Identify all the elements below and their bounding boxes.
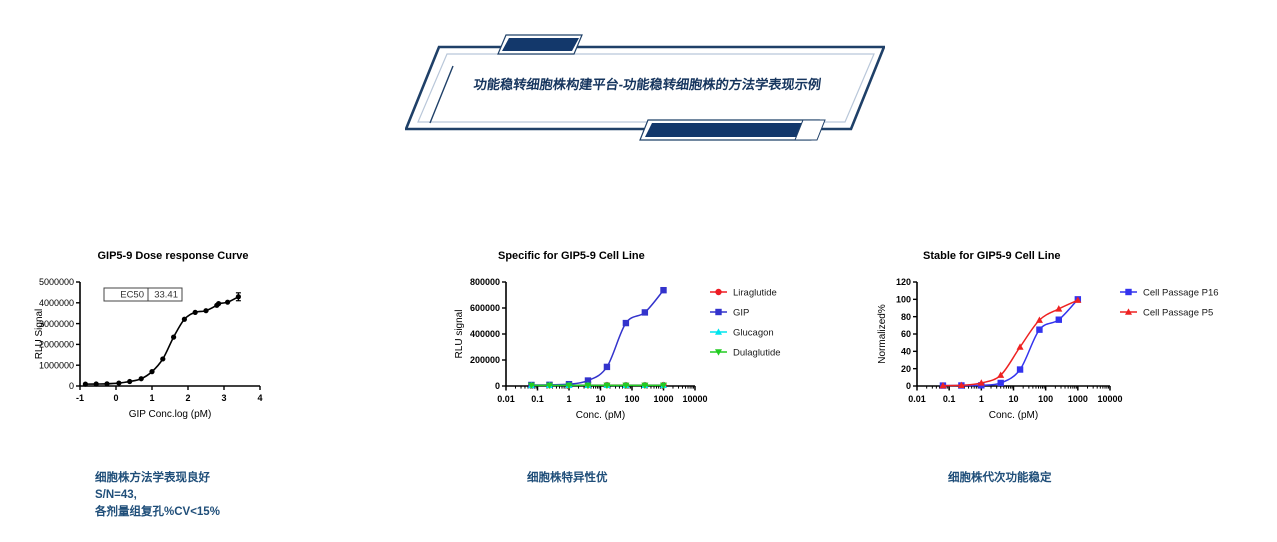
chart-2-data-point xyxy=(660,287,666,293)
chart-1-data-point xyxy=(116,380,121,385)
chart-1-y-tick-label: 1000000 xyxy=(39,360,74,370)
chart-1-x-tick-label: 0 xyxy=(113,393,118,403)
banner-title: 功能稳转细胞株构建平台-功能稳转细胞株的方法学表现示例 xyxy=(434,74,861,93)
chart-1-ec50-label: EC50 xyxy=(120,290,144,301)
chart-2-svg: 02000004000006000008000000.010.111010010… xyxy=(440,268,840,433)
chart-3-legend-marker xyxy=(1125,289,1131,295)
chart-1-data-point xyxy=(127,379,132,384)
chart-panel-2: Specific for GIP5-9 Cell Line 0200000400… xyxy=(440,250,840,433)
caption-3: 细胞株代次功能稳定 xyxy=(948,470,1052,487)
chart-3-data-point xyxy=(1056,317,1062,323)
chart-1-y-tick-label: 5000000 xyxy=(39,277,74,287)
chart-2-data-point xyxy=(642,309,648,315)
chart-2-legend-label: Liraglutide xyxy=(733,287,777,298)
chart-3-x-axis-label: Conc. (pM) xyxy=(989,410,1038,421)
chart-2-legend-marker xyxy=(715,309,721,315)
chart-2-y-tick-label: 0 xyxy=(495,381,500,391)
chart-2-y-axis-label: RLU signal xyxy=(454,310,465,359)
chart-1-data-point xyxy=(149,369,154,374)
chart-3-x-tick-label: 1 xyxy=(979,394,984,404)
chart-1-data-point xyxy=(104,381,109,386)
chart-1-data-point xyxy=(182,317,187,322)
chart-1-data-point xyxy=(216,301,221,306)
chart-3-series-line xyxy=(943,299,1078,385)
chart-panel-1: GIP5-9 Dose response Curve 0100000020000… xyxy=(18,250,328,428)
chart-1-x-tick-label: 1 xyxy=(149,393,154,403)
chart-3-y-axis-label: Normalized% xyxy=(877,304,888,364)
chart-1-data-point xyxy=(83,382,88,387)
chart-3-data-point xyxy=(1017,366,1023,372)
chart-1-x-tick-label: -1 xyxy=(76,393,84,403)
chart-1-data-point xyxy=(236,294,241,299)
chart-2-y-tick-label: 800000 xyxy=(470,277,500,287)
chart-3-x-tick-label: 10000 xyxy=(1097,394,1122,404)
chart-2-y-tick-label: 400000 xyxy=(470,329,500,339)
banner: 功能稳转细胞株构建平台-功能稳转细胞株的方法学表现示例 xyxy=(405,28,885,148)
chart-3-series-line xyxy=(943,300,1078,385)
chart-2-legend-label: GIP xyxy=(733,307,749,318)
chart-2-y-tick-label: 200000 xyxy=(470,355,500,365)
chart-2-plot: 02000004000006000008000000.010.111010010… xyxy=(440,268,840,433)
chart-1-data-point xyxy=(171,335,176,340)
chart-3-x-tick-label: 0.1 xyxy=(943,394,956,404)
chart-panel-3: Stable for GIP5-9 Cell Line 020406080100… xyxy=(865,250,1265,433)
chart-1-data-point xyxy=(160,356,165,361)
chart-3-legend-label: Cell Passage P16 xyxy=(1143,287,1219,298)
chart-1-plot: 010000002000000300000040000005000000-101… xyxy=(18,268,328,428)
chart-2-x-tick-label: 0.01 xyxy=(497,394,515,404)
chart-1-y-tick-label: 4000000 xyxy=(39,298,74,308)
chart-2-x-tick-label: 100 xyxy=(624,394,639,404)
chart-2-x-tick-label: 1 xyxy=(566,394,571,404)
chart-2-legend-label: Dulaglutide xyxy=(733,347,781,358)
chart-3-x-tick-label: 1000 xyxy=(1068,394,1088,404)
chart-2-title: Specific for GIP5-9 Cell Line xyxy=(440,250,840,262)
chart-3-y-tick-label: 40 xyxy=(901,347,911,357)
chart-3-y-tick-label: 100 xyxy=(896,295,911,305)
chart-2-x-tick-label: 0.1 xyxy=(531,394,544,404)
chart-1-data-point xyxy=(193,310,198,315)
chart-1-fit-curve xyxy=(85,297,238,384)
chart-3-y-tick-label: 20 xyxy=(901,364,911,374)
chart-2-x-axis-label: Conc. (pM) xyxy=(576,410,625,421)
chart-3-plot: 0204060801001200.010.1110100100010000Con… xyxy=(865,268,1265,433)
chart-3-x-tick-label: 10 xyxy=(1008,394,1018,404)
chart-2-y-tick-label: 600000 xyxy=(470,303,500,313)
chart-1-data-point xyxy=(94,381,99,386)
chart-3-x-tick-label: 0.01 xyxy=(908,394,926,404)
chart-2-legend-marker xyxy=(715,289,721,295)
chart-3-data-point xyxy=(997,380,1003,386)
chart-3-x-tick-label: 100 xyxy=(1038,394,1053,404)
chart-1-x-tick-label: 2 xyxy=(185,393,190,403)
caption-2: 细胞株特异性优 xyxy=(527,470,608,487)
chart-2-x-tick-label: 1000 xyxy=(653,394,673,404)
chart-3-legend-label: Cell Passage P5 xyxy=(1143,307,1213,318)
chart-1-data-point xyxy=(225,300,230,305)
chart-2-data-point xyxy=(604,364,610,370)
chart-1-data-point xyxy=(139,376,144,381)
chart-1-y-tick-label: 0 xyxy=(69,381,74,391)
chart-2-data-point xyxy=(623,320,629,326)
chart-3-y-tick-label: 60 xyxy=(901,329,911,339)
chart-1-x-axis-label: GIP Conc.log (pM) xyxy=(129,409,212,420)
chart-3-y-tick-label: 0 xyxy=(906,381,911,391)
chart-3-title: Stable for GIP5-9 Cell Line xyxy=(865,250,1265,262)
banner-top-tab-fill xyxy=(502,38,579,51)
chart-1-x-tick-label: 3 xyxy=(221,393,226,403)
chart-3-y-tick-label: 120 xyxy=(896,277,911,287)
caption-1: 细胞株方法学表现良好 S/N=43, 各剂量组复孔%CV<15% xyxy=(95,470,220,521)
chart-3-svg: 0204060801001200.010.1110100100010000Con… xyxy=(865,268,1265,433)
chart-2-legend-label: Glucagon xyxy=(733,327,774,338)
chart-1-x-tick-label: 4 xyxy=(257,393,262,403)
chart-2-x-tick-label: 10000 xyxy=(682,394,707,404)
chart-3-y-tick-label: 80 xyxy=(901,312,911,322)
banner-bottom-tab-fill xyxy=(645,123,815,137)
chart-1-svg: 010000002000000300000040000005000000-101… xyxy=(18,268,268,428)
chart-3-data-point xyxy=(1036,326,1042,332)
chart-1-ec50-value: 33.41 xyxy=(154,290,178,301)
chart-2-series-line xyxy=(531,290,663,385)
chart-2-x-tick-label: 10 xyxy=(595,394,605,404)
chart-1-data-point xyxy=(203,308,208,313)
chart-1-y-axis-label: RLU Signal xyxy=(34,309,45,360)
chart-1-title: GIP5-9 Dose response Curve xyxy=(18,250,328,262)
